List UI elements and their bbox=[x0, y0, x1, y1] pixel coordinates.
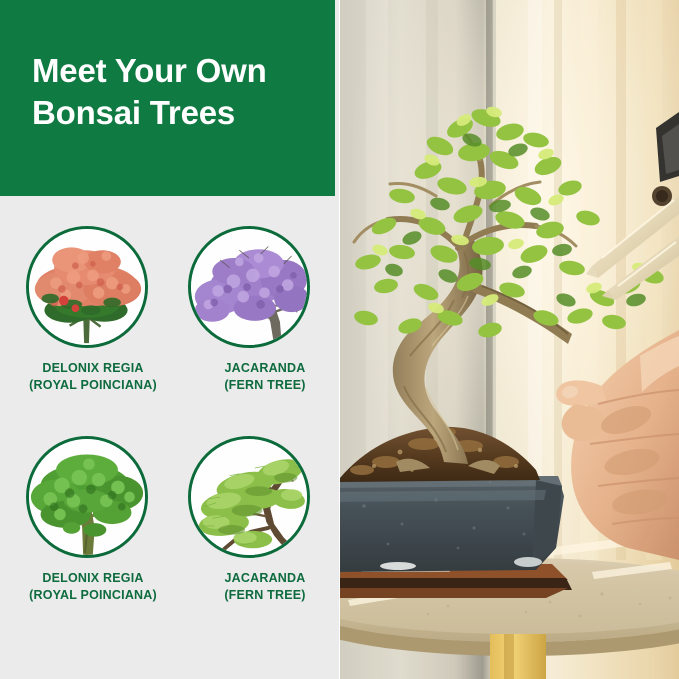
variety-card[interactable]: JACARANDA (FERN TREE) bbox=[176, 436, 336, 604]
variety-card[interactable]: JACARANDA (FERN TREE) bbox=[176, 226, 336, 394]
variety-card[interactable]: DELONIX REGIA (ROYAL POINCIANA) bbox=[12, 226, 172, 394]
variety-thumbnail[interactable] bbox=[26, 226, 148, 348]
header-band: Meet Your Own Bonsai Trees bbox=[0, 0, 335, 196]
flowering-tree-coral-thumbnail bbox=[29, 229, 145, 345]
broadleaf-tree-green-thumbnail bbox=[29, 439, 145, 555]
variety-card[interactable]: DELONIX REGIA (ROYAL POINCIANA) bbox=[12, 436, 172, 604]
info-panel: Meet Your Own Bonsai Trees bbox=[0, 0, 339, 679]
flowering-tree-purple-thumbnail bbox=[191, 229, 307, 345]
variety-thumbnail[interactable] bbox=[26, 436, 148, 558]
bonsai-tree-photo bbox=[340, 0, 679, 679]
variety-label: JACARANDA (FERN TREE) bbox=[190, 360, 340, 394]
pine-bonsai-green-thumbnail bbox=[191, 439, 307, 555]
variety-thumbnail[interactable] bbox=[188, 226, 310, 348]
page-title: Meet Your Own Bonsai Trees bbox=[32, 50, 322, 134]
variety-label: DELONIX REGIA (ROYAL POINCIANA) bbox=[8, 360, 178, 394]
promo-image: Meet Your Own Bonsai Trees bbox=[0, 0, 679, 679]
variety-label: DELONIX REGIA (ROYAL POINCIANA) bbox=[8, 570, 178, 604]
variety-label: JACARANDA (FERN TREE) bbox=[190, 570, 340, 604]
variety-thumbnail[interactable] bbox=[188, 436, 310, 558]
variety-grid: DELONIX REGIA (ROYAL POINCIANA) bbox=[0, 196, 339, 679]
